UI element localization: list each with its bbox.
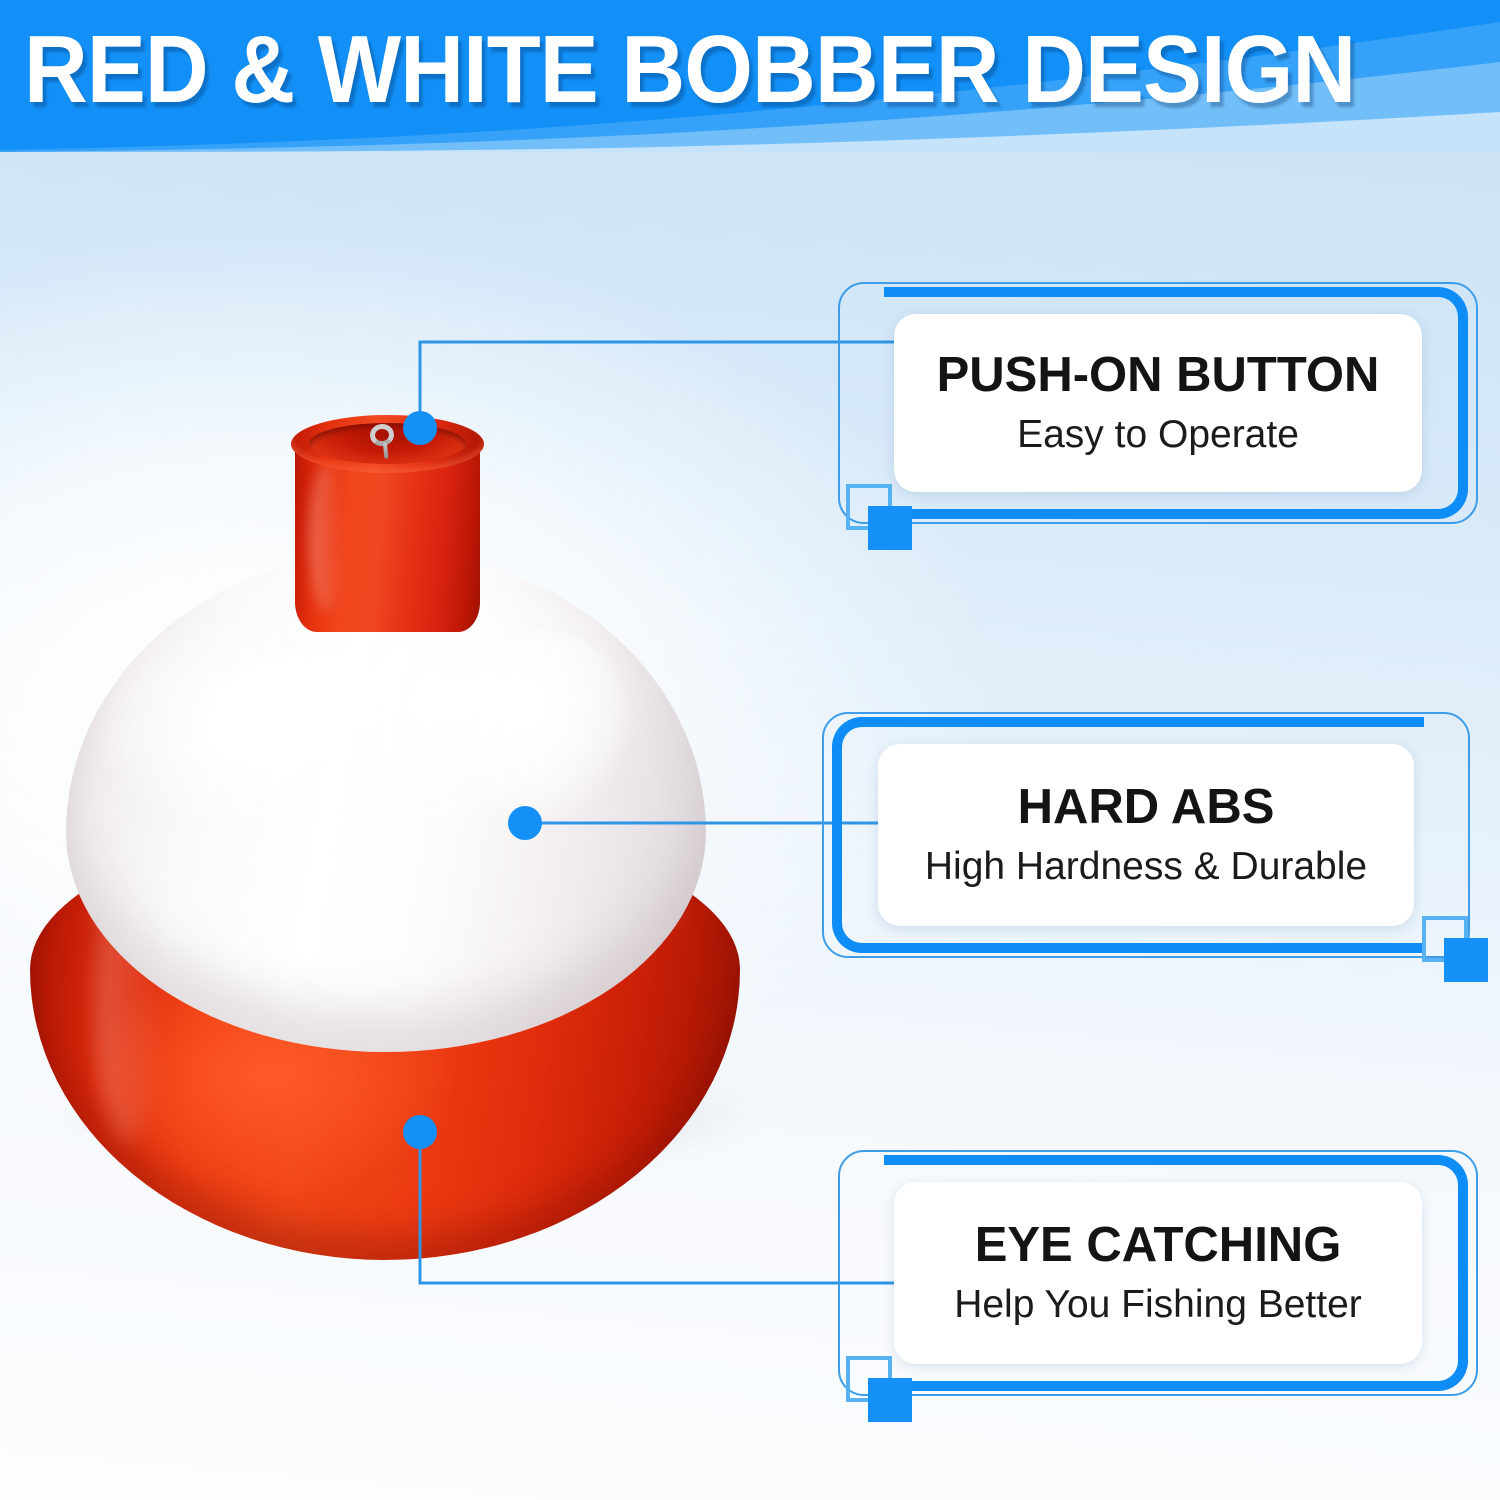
- callout-subtitle: High Hardness & Durable: [925, 842, 1367, 892]
- connector-dot-push-on-button: [403, 411, 437, 445]
- deco-square-filled: [868, 1378, 912, 1422]
- callout-title: EYE CATCHING: [975, 1216, 1342, 1274]
- callout-subtitle: Easy to Operate: [1017, 410, 1299, 460]
- callout-hard-abs[interactable]: HARD ABS High Hardness & Durable: [822, 712, 1470, 958]
- infographic-page: RED & WHITE BOBBER DESIGN PUSH-ON BUTTON…: [0, 0, 1500, 1500]
- callout-card: EYE CATCHING Help You Fishing Better: [894, 1182, 1422, 1364]
- connector-dot-hard-abs: [508, 806, 542, 840]
- callout-title: PUSH-ON BUTTON: [937, 346, 1380, 404]
- callout-title: HARD ABS: [1018, 778, 1275, 836]
- callout-eye-catching[interactable]: EYE CATCHING Help You Fishing Better: [838, 1150, 1478, 1396]
- deco-square-filled: [1444, 938, 1488, 982]
- connector-dot-eye-catching: [403, 1115, 437, 1149]
- deco-square-filled: [868, 506, 912, 550]
- callout-subtitle: Help You Fishing Better: [954, 1280, 1362, 1330]
- decorative-squares: [1422, 916, 1488, 982]
- decorative-squares: [846, 1356, 912, 1422]
- callout-card: HARD ABS High Hardness & Durable: [878, 744, 1414, 926]
- callout-push-on-button[interactable]: PUSH-ON BUTTON Easy to Operate: [838, 282, 1478, 524]
- callout-card: PUSH-ON BUTTON Easy to Operate: [894, 314, 1422, 492]
- decorative-squares: [846, 484, 912, 550]
